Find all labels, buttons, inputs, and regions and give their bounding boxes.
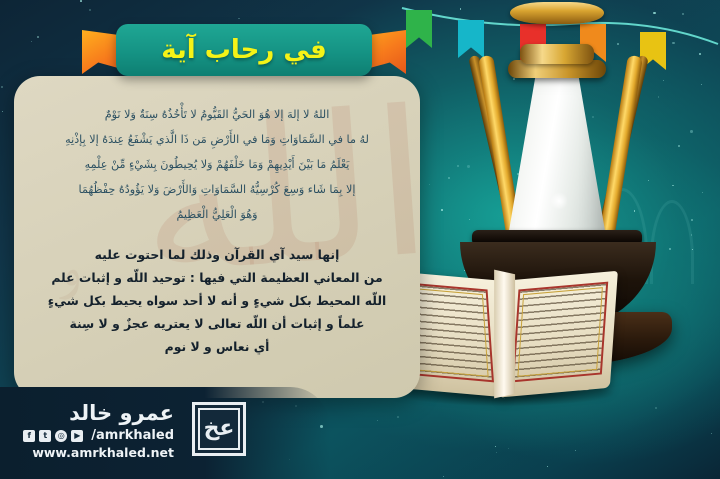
commentary-line-3: اللّه المحيط بكل شيءٍ و أنه لا أحد سواه …: [36, 289, 398, 312]
social-row: f t ◎ ▶ /amrkhaled: [23, 428, 174, 443]
brand-footer: عخ عمرو خالد f t ◎ ▶ /amrkhaled www.amrk…: [16, 400, 246, 466]
title-banner: في رحاب آية: [116, 24, 372, 76]
page-title: في رحاب آية: [161, 35, 326, 65]
facebook-icon[interactable]: f: [23, 430, 35, 442]
verse-line-3: يَعْلَمُ مَا بَيْنَ أَيْدِيهِمْ وَمَا خَ…: [32, 152, 402, 177]
brand-logo-mark: عخ: [192, 402, 246, 456]
instagram-icon[interactable]: ◎: [55, 430, 67, 442]
social-handle[interactable]: /amrkhaled: [91, 428, 174, 443]
verse-line-2: لهُ ما في السَّمَاوَاتِ وَمَا في الأَرْض…: [32, 127, 402, 152]
twitter-icon[interactable]: t: [39, 430, 51, 442]
commentary-line-5: أي نعاس و لا نوم: [36, 335, 398, 358]
lantern-glass-highlight: [550, 192, 568, 210]
title-banner-group: في رحاب آية: [84, 18, 404, 80]
content-card: الله ۥ اللهُ لا إلهَ إلا هُوَ الحَيُّ ال…: [14, 76, 420, 398]
verse-line-5: وَهُوَ الْعَلِيُّ الْعَظِيمُ: [32, 202, 402, 227]
open-quran-graphic: [390, 262, 620, 412]
verse-line-4: إلا بِمَا شَاء وَسِعَ كُرْسِيُّهُ السَّم…: [32, 177, 402, 202]
lantern-ring: [520, 44, 594, 64]
verse-block: اللهُ لا إلهَ إلا هُوَ الحَيُّ القَيُّوم…: [32, 102, 402, 227]
book-spine: [494, 270, 515, 399]
book-page-right: [502, 271, 618, 398]
website-url[interactable]: www.amrkhaled.net: [23, 445, 174, 460]
brand-logo-glyph: عخ: [198, 408, 240, 450]
brand-text-group: عمرو خالد f t ◎ ▶ /amrkhaled www.amrkhal…: [23, 400, 174, 460]
commentary-line-1: إنها سيد آي القرآن وذلك لما احتوت عليه: [36, 243, 398, 266]
poster-root: الله ۥ اللهُ لا إلهَ إلا هُوَ الحَيُّ ال…: [0, 0, 720, 479]
commentary-line-2: من المعاني العظيمة التي فيها : توحيد الل…: [36, 266, 398, 289]
commentary-line-4: علماً و إثبات أن اللّه تعالى لا يعتريه ع…: [36, 312, 398, 335]
commentary-block: إنها سيد آي القرآن وذلك لما احتوت عليه م…: [36, 243, 398, 358]
brand-name: عمرو خالد: [23, 400, 174, 426]
verse-line-1: اللهُ لا إلهَ إلا هُوَ الحَيُّ القَيُّوم…: [32, 102, 402, 127]
book-page-right-text: [512, 282, 608, 383]
lantern-cap: [510, 2, 604, 24]
youtube-icon[interactable]: ▶: [71, 430, 83, 442]
